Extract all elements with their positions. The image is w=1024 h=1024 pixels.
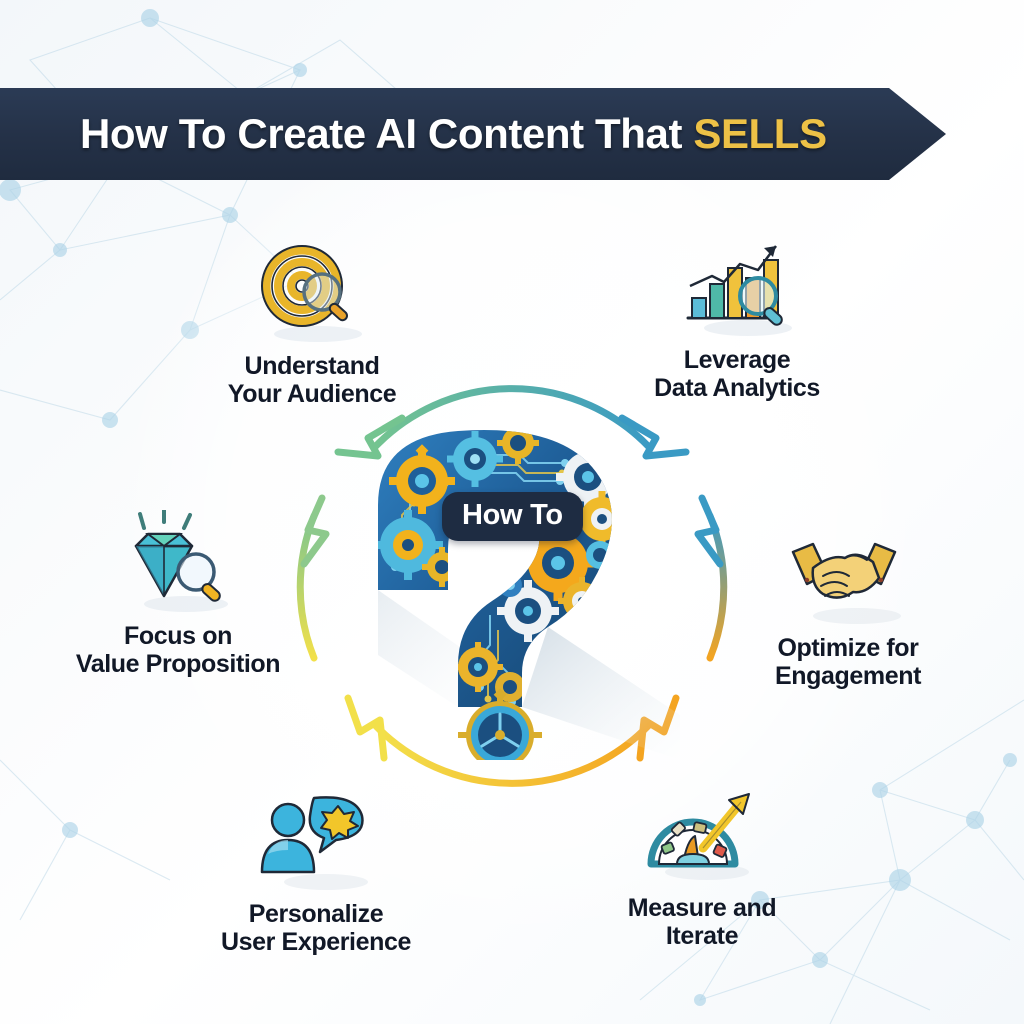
step-label-line2: Engagement	[723, 662, 973, 690]
page-title-main: How To Create AI Content That	[80, 110, 693, 157]
step-label-line2: Iterate	[577, 922, 827, 950]
handshake-icon	[783, 528, 913, 628]
how-to-badge: How To	[442, 492, 583, 541]
step-icon-wrapper	[191, 786, 441, 894]
step-label: Leverage Data Analytics	[612, 346, 862, 403]
step-icon-wrapper	[187, 238, 437, 346]
step-label-line1: Personalize	[191, 900, 441, 928]
step-label-line1: Measure and	[577, 894, 827, 922]
step-label-line2: Data Analytics	[612, 374, 862, 402]
user-speech-bubble-icon	[254, 794, 379, 894]
bar-chart-magnifier-icon	[672, 234, 802, 340]
step-measure-and-iterate[interactable]: Measure and Iterate	[577, 780, 827, 951]
step-label-line2: Value Proposition	[53, 650, 303, 678]
step-leverage-data-analytics[interactable]: Leverage Data Analytics	[612, 232, 862, 403]
step-label-line1: Leverage	[612, 346, 862, 374]
step-icon-wrapper	[723, 520, 973, 628]
step-label: Optimize for Engagement	[723, 634, 973, 691]
step-label-line1: Focus on	[53, 622, 303, 650]
step-label: Personalize User Experience	[191, 900, 441, 957]
page-banner: How To Create AI Content That SELLS	[0, 88, 946, 180]
infographic-canvas: How To Create AI Content That SELLS	[0, 0, 1024, 1024]
step-label-line1: Optimize for	[723, 634, 973, 662]
step-label-line1: Understand	[187, 352, 437, 380]
step-icon-wrapper	[53, 508, 303, 616]
page-title: How To Create AI Content That SELLS	[80, 110, 827, 158]
step-icon-wrapper	[612, 232, 862, 340]
step-label-line2: User Experience	[191, 928, 441, 956]
step-focus-on-value-proposition[interactable]: Focus on Value Proposition	[53, 508, 303, 679]
speedometer-arrow-icon	[637, 788, 767, 888]
step-label: Measure and Iterate	[577, 894, 827, 951]
diamond-magnifier-icon	[116, 510, 241, 616]
target-magnifier-icon	[252, 242, 372, 346]
step-personalize-user-experience[interactable]: Personalize User Experience	[191, 786, 441, 957]
page-title-accent: SELLS	[693, 110, 826, 157]
step-label-line2: Your Audience	[187, 380, 437, 408]
circuit-gear-question-mark-icon	[350, 415, 680, 760]
step-label: Understand Your Audience	[187, 352, 437, 409]
step-understand-your-audience[interactable]: Understand Your Audience	[187, 238, 437, 409]
step-optimize-for-engagement[interactable]: Optimize for Engagement	[723, 520, 973, 691]
step-label: Focus on Value Proposition	[53, 622, 303, 679]
step-icon-wrapper	[577, 780, 827, 888]
